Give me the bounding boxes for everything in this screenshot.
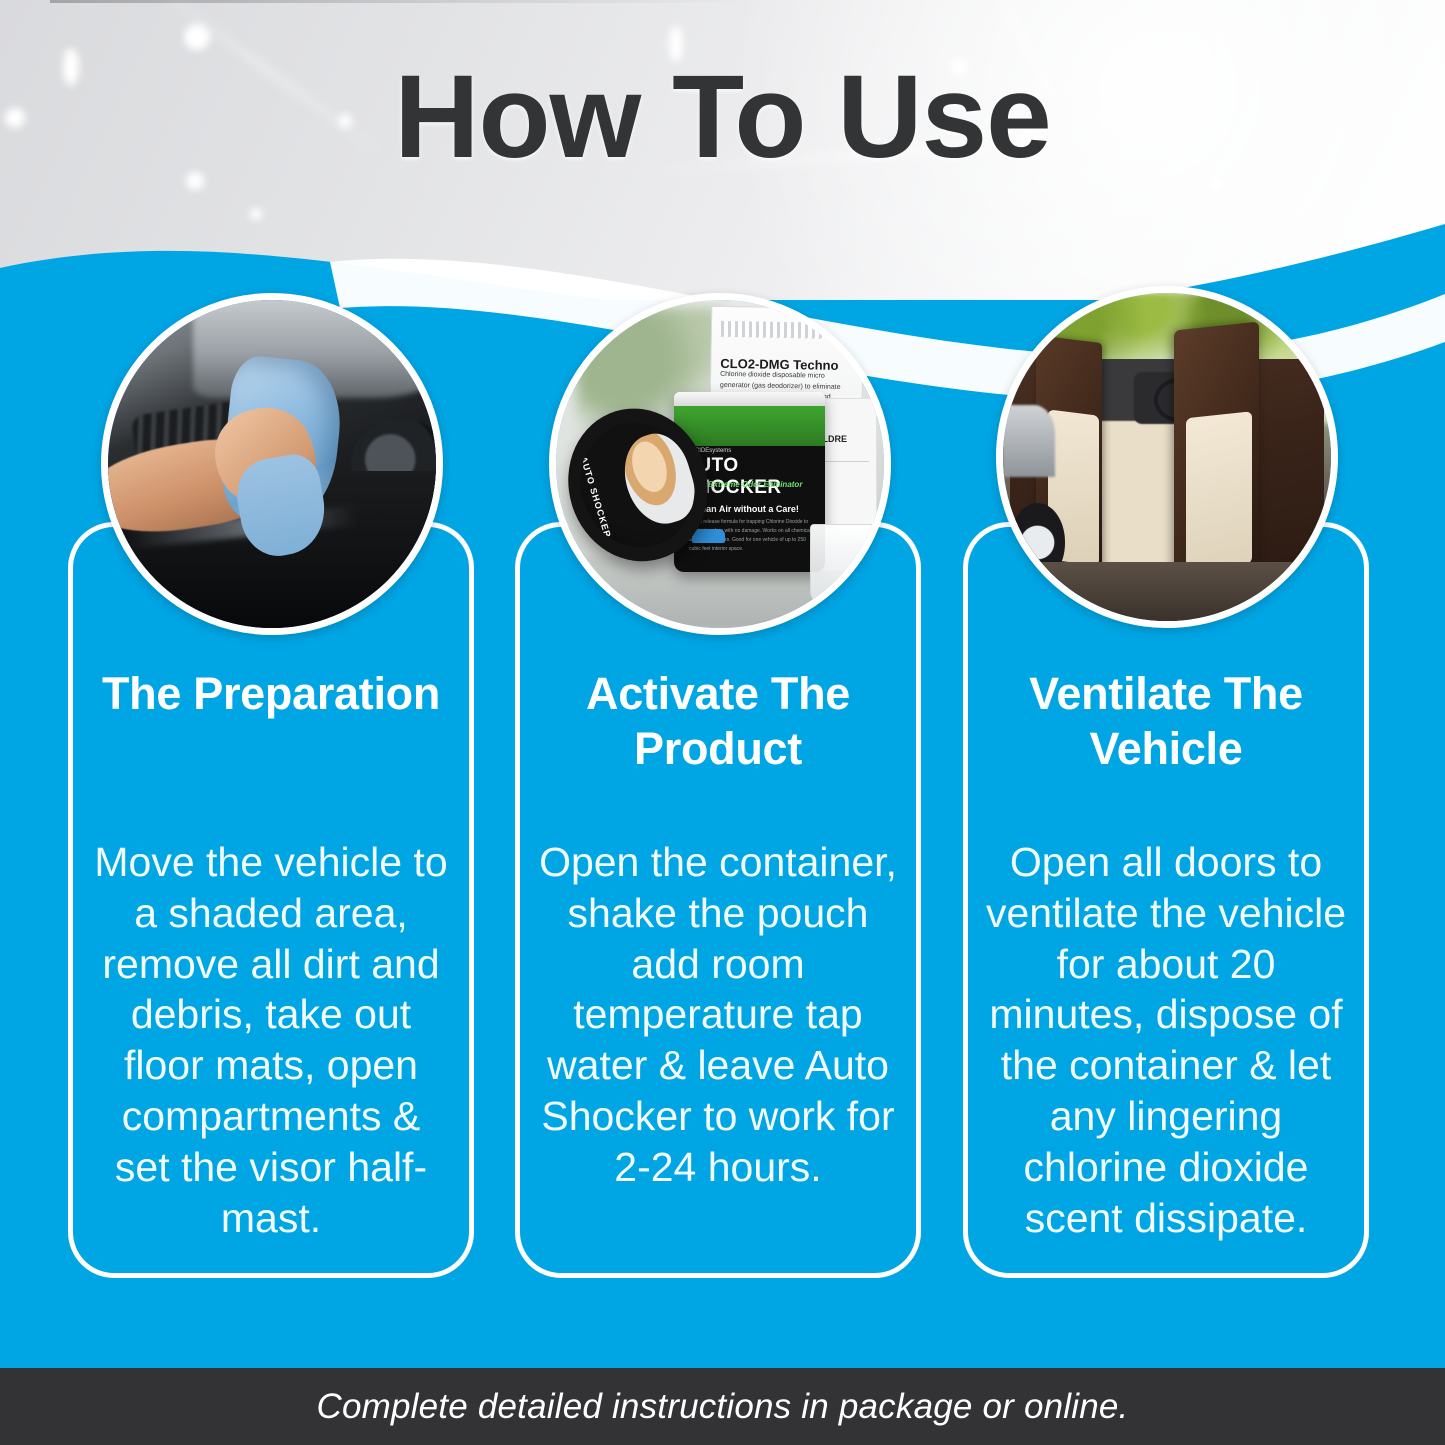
card-body: Open all doors to ventilate the vehicle … <box>984 837 1348 1244</box>
step-card-ventilate[interactable]: Ventilate The Vehicle Open all doors to … <box>963 522 1369 1278</box>
lid-product-name: AUTO SHOCKER <box>579 455 613 539</box>
footer-bar: Complete detailed instructions in packag… <box>0 1368 1445 1445</box>
infographic-page: How To Use The Preparation Move the vehi… <box>0 0 1445 1445</box>
product-container-photo: CLO2-DMG Techno Chlorine dioxide disposa… <box>549 293 891 635</box>
card-body: Open the container, shake the pouch add … <box>536 837 900 1193</box>
step-card-preparation[interactable]: The Preparation Move the vehicle to a sh… <box>68 522 474 1278</box>
measuring-cup <box>810 524 874 605</box>
car-icon <box>692 529 725 543</box>
footer-note: Complete detailed instructions in packag… <box>317 1387 1129 1427</box>
card-title: Activate The Product <box>544 667 892 777</box>
open-car-doors-photo <box>996 286 1338 628</box>
card-title: The Preparation <box>97 667 445 722</box>
dashboard-cleaning-photo <box>101 293 443 635</box>
card-body: Move the vehicle to a shaded area, remov… <box>89 837 453 1244</box>
steps-container: The Preparation Move the vehicle to a sh… <box>0 0 1445 1445</box>
card-title: Ventilate The Vehicle <box>992 667 1340 777</box>
product-tagline: Clean Air without a Care! <box>692 504 799 514</box>
step-card-activate[interactable]: Activate The Product Open the container,… <box>515 522 921 1278</box>
